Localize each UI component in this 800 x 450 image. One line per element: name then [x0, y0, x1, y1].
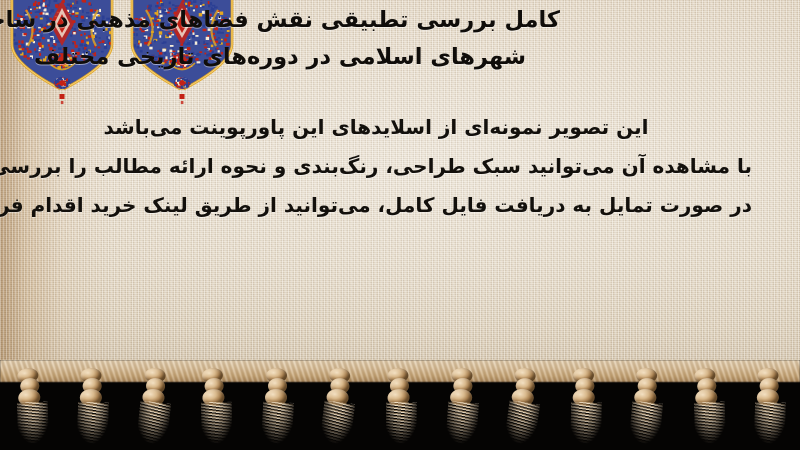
tassel-strands: [386, 402, 417, 444]
tassel-strands: [629, 401, 664, 446]
tassel-strands: [570, 402, 602, 445]
body-line-2: با مشاهده آن می‌توانید سبک طراحی، رنگ‌بن…: [0, 147, 752, 186]
presentation-slide: کامل بررسی تطبیقی نقش فضاهای مذهبی در سا…: [0, 0, 800, 450]
fringe-tassel: [628, 367, 665, 444]
fringe-tassel: [687, 367, 727, 446]
slide-body: این تصویر نمونه‌ای از اسلایدهای این پاور…: [0, 108, 752, 225]
tassel-strands: [136, 400, 171, 445]
fringe-tassel: [135, 367, 173, 445]
tassel-strands: [77, 401, 109, 444]
tassel-strands: [261, 401, 294, 445]
tassel-strands: [201, 402, 233, 445]
fringe-tassel: [381, 367, 419, 445]
black-carpet-border: [0, 360, 800, 450]
fringe-tassel: [196, 367, 235, 445]
fringe-tassel: [752, 368, 787, 445]
body-line-3: در صورت تمایل به دریافت فایل کامل، می‌تو…: [0, 186, 752, 225]
tassel-strands: [504, 400, 541, 446]
fringe-tassel: [444, 368, 479, 445]
fringe-tassel: [319, 367, 358, 445]
tassel-strands: [693, 401, 725, 444]
fringe-tassel: [75, 368, 110, 445]
tassel-strands: [320, 400, 356, 445]
tassel-strands: [754, 401, 786, 444]
tassel-strands: [445, 401, 479, 445]
fringe-tassel: [260, 368, 294, 444]
fringe-tassel: [11, 367, 51, 446]
slide-title: کامل بررسی تطبیقی نقش فضاهای مذهبی در سا…: [0, 2, 790, 76]
title-line-1: کامل بررسی تطبیقی نقش فضاهای مذهبی در سا…: [0, 2, 560, 39]
tassel-strands: [17, 401, 49, 444]
fringe-tassel: [503, 367, 543, 446]
body-line-1: این تصویر نمونه‌ای از اسلایدهای این پاور…: [0, 108, 752, 147]
title-line-2: شهرهای اسلامی در دوره‌های تاریخی مختلف: [0, 39, 560, 76]
fringe-tassel: [566, 367, 603, 444]
